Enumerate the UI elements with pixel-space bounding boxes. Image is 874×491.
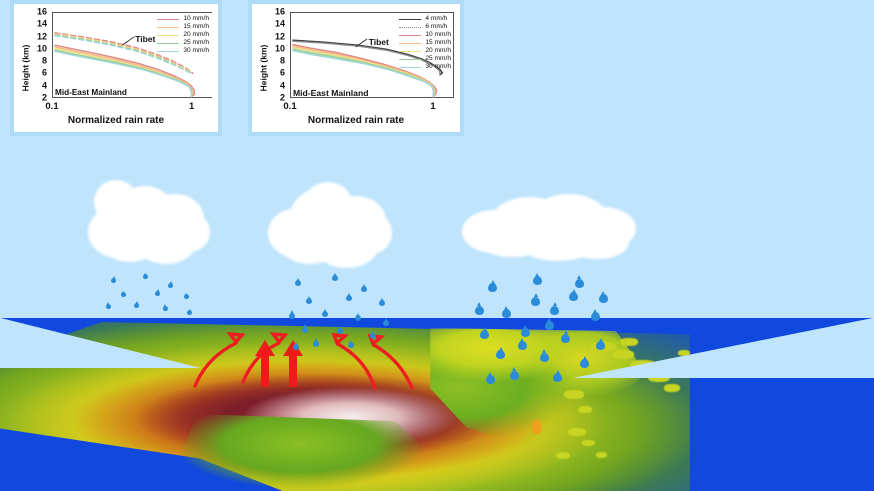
raindrop: [545, 321, 554, 330]
chart-right: Height (km)1614121086420.11Normalized ra…: [252, 4, 460, 132]
raindrop: [533, 276, 542, 285]
raindrop: [184, 294, 189, 299]
terrain-map: [0, 318, 874, 491]
x-axis-label: Normalized rain rate: [252, 115, 460, 126]
chart-panel-left: Height (km)1614121086420.11Normalized ra…: [10, 0, 222, 136]
cloud-puff: [305, 182, 352, 222]
annotation-leader-line: [122, 37, 134, 46]
legend-label: 30 mm/h: [183, 47, 209, 55]
legend-label: 20 mm/h: [183, 31, 209, 39]
legend-label: 25 mm/h: [425, 55, 451, 63]
chart-left: Height (km)1614121086420.11Normalized ra…: [14, 4, 218, 132]
rain-west: [100, 272, 195, 334]
raindrop: [168, 283, 173, 288]
legend-item[interactable]: 6 mm/h: [399, 23, 451, 31]
annotation-tibet: Tibet: [135, 34, 155, 44]
raindrop: [518, 341, 527, 350]
legend-swatch: [157, 35, 179, 36]
rain-central: [282, 272, 392, 350]
raindrop: [569, 292, 578, 301]
cloud-east: [462, 188, 607, 274]
figure-canvas: Height (km)1614121086420.11Normalized ra…: [0, 0, 874, 491]
cloud-puff: [351, 212, 392, 254]
legend-swatch: [157, 27, 179, 28]
raindrop: [580, 359, 589, 368]
raindrop: [348, 342, 354, 348]
raindrop: [111, 278, 116, 283]
raindrop: [355, 315, 361, 321]
legend-item[interactable]: 10 mm/h: [157, 15, 209, 23]
raindrop: [134, 303, 139, 308]
legend-swatch: [157, 51, 179, 52]
raindrop: [143, 274, 148, 279]
raindrop: [502, 309, 511, 318]
cloud-puff: [168, 212, 210, 252]
raindrop: [313, 341, 319, 347]
raindrop: [289, 313, 295, 319]
legend-label: 6 mm/h: [425, 23, 447, 31]
raindrop: [293, 344, 299, 350]
raindrop: [361, 286, 367, 292]
raindrop: [475, 306, 484, 315]
cloud-puff: [94, 180, 138, 224]
legend-item[interactable]: 30 mm/h: [157, 47, 209, 55]
x-tick-label: 1: [189, 101, 194, 112]
legend-item[interactable]: 15 mm/h: [399, 39, 451, 47]
updraft-arrow-group: [0, 318, 874, 491]
raindrop: [332, 275, 338, 281]
raindrop: [510, 371, 519, 380]
legend-item[interactable]: 20 mm/h: [157, 31, 209, 39]
cloud-central: [268, 182, 388, 274]
annotation-tibet: Tibet: [369, 37, 389, 47]
legend-swatch: [399, 43, 421, 44]
raindrop: [155, 291, 160, 296]
cloud-puff: [565, 225, 629, 259]
raindrop: [599, 294, 608, 303]
legend-label: 10 mm/h: [183, 15, 209, 23]
raindrop: [302, 327, 308, 333]
legend-swatch: [399, 35, 421, 36]
x-tick-label: 0.1: [283, 101, 296, 112]
legend-label: 15 mm/h: [183, 23, 209, 31]
raindrop: [550, 306, 559, 315]
raindrop: [121, 292, 126, 297]
legend-label: 4 mm/h: [425, 15, 447, 23]
raindrop: [496, 350, 505, 359]
raindrop: [346, 295, 352, 301]
raindrop: [322, 311, 328, 317]
legend-label: 30 mm/h: [425, 63, 451, 71]
raindrop: [306, 298, 312, 304]
x-tick-label: 0.1: [45, 101, 58, 112]
legend-label: 10 mm/h: [425, 31, 451, 39]
raindrop: [488, 283, 497, 292]
legend-item[interactable]: 20 mm/h: [399, 47, 451, 55]
raindrop: [337, 328, 343, 334]
legend-swatch: [157, 43, 179, 44]
legend-label: 15 mm/h: [425, 39, 451, 47]
raindrop: [575, 279, 584, 288]
raindrop: [480, 330, 489, 339]
chart-panel-right: Height (km)1614121086420.11Normalized ra…: [248, 0, 464, 136]
raindrop: [106, 304, 111, 309]
annotation-mainland: Mid-East Mainland: [55, 88, 127, 97]
raindrop: [379, 300, 385, 306]
legend-item[interactable]: 15 mm/h: [157, 23, 209, 31]
legend-item[interactable]: 30 mm/h: [399, 63, 451, 71]
raindrop: [486, 375, 495, 384]
legend-item[interactable]: 10 mm/h: [399, 31, 451, 39]
raindrop: [561, 334, 570, 343]
legend-item[interactable]: 25 mm/h: [157, 39, 209, 47]
raindrop: [370, 333, 376, 339]
legend-swatch: [157, 19, 179, 20]
chart-legend: 10 mm/h15 mm/h20 mm/h25 mm/h30 mm/h: [157, 15, 209, 55]
legend-swatch: [399, 19, 421, 20]
raindrop: [591, 312, 600, 321]
x-tick-label: 1: [430, 101, 435, 112]
legend-item[interactable]: 4 mm/h: [399, 15, 451, 23]
raindrop: [383, 320, 389, 326]
x-axis-label: Normalized rain rate: [14, 115, 218, 126]
rain-east: [472, 272, 607, 384]
legend-item[interactable]: 25 mm/h: [399, 55, 451, 63]
raindrop: [521, 328, 530, 337]
legend-label: 20 mm/h: [425, 47, 451, 55]
raindrop: [531, 297, 540, 306]
legend-swatch: [399, 27, 421, 28]
raindrop: [295, 280, 301, 286]
chart-legend: 4 mm/h6 mm/h10 mm/h15 mm/h20 mm/h25 mm/h…: [399, 15, 451, 71]
raindrop: [187, 310, 192, 315]
legend-swatch: [399, 51, 421, 52]
raindrop: [553, 373, 562, 382]
raindrop: [163, 306, 168, 311]
annotation-mainland: Mid-East Mainland: [293, 88, 368, 98]
legend-label: 25 mm/h: [183, 39, 209, 47]
cloud-west: [88, 178, 206, 270]
raindrop: [596, 341, 605, 350]
raindrop: [540, 353, 549, 362]
legend-swatch: [399, 67, 421, 68]
legend-swatch: [399, 59, 421, 60]
